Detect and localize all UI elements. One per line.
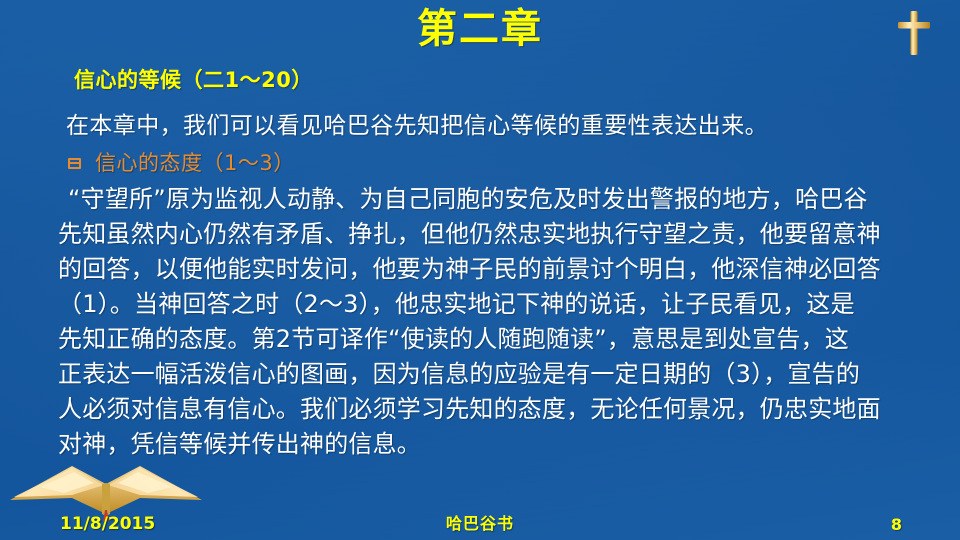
paragraph-line: 先知虽然内心仍然有矛盾、挣扎，但他仍然忠实地执行守望之责，他要留意神 (58, 217, 938, 252)
hollow-square-bullet-icon (68, 158, 81, 169)
section-heading: 信心的等候（二1～20） (74, 64, 313, 94)
slide-title-bar: 第二章 (0, 0, 960, 62)
paragraph-line: 先知正确的态度。第2节可译作“使读的人随跑随读”，意思是到处宣告，这 (58, 322, 938, 357)
page-title: 第二章 (0, 2, 960, 56)
presentation-slide: 第二章 信心的等候（二1～20） 在本章中，我们可以看见哈巴谷先知把信心等候的重… (0, 0, 960, 540)
paragraph-line: 的回答，以便他能实时发问，他要为神子民的前景讨个明白，他深信神必回答 (58, 252, 938, 287)
sub-heading: 信心的态度（1～3） (68, 147, 295, 177)
intro-paragraph: 在本章中，我们可以看见哈巴谷先知把信心等候的重要性表达出来。 (66, 106, 768, 140)
paragraph-line: “守望所”原为监视人动静、为自己同胞的安危及时发出警报的地方，哈巴谷 (58, 182, 938, 217)
footer-book-title: 哈巴谷书 (0, 510, 960, 534)
cross-icon (892, 8, 936, 58)
footer-page-number: 8 (891, 515, 902, 534)
paragraph-line: 人必须对信息有信心。我们必须学习先知的态度，无论任何景况，仍忠实地面 (58, 392, 938, 427)
body-paragraph: “守望所”原为监视人动静、为自己同胞的安危及时发出警报的地方，哈巴谷 先知虽然内… (58, 182, 938, 462)
slide-footer: 11/8/2015 哈巴谷书 8 (0, 504, 960, 540)
paragraph-line: （1）。当神回答之时（2～3），他忠实地记下神的说话，让子民看见，这是 (58, 287, 938, 322)
paragraph-line: 正表达一幅活泼信心的图画，因为信息的应验是有一定日期的（3），宣告的 (58, 357, 938, 392)
paragraph-line: 对神，凭信等候并传出神的信息。 (58, 427, 938, 462)
sub-heading-label: 信心的态度（1～3） (95, 147, 295, 177)
